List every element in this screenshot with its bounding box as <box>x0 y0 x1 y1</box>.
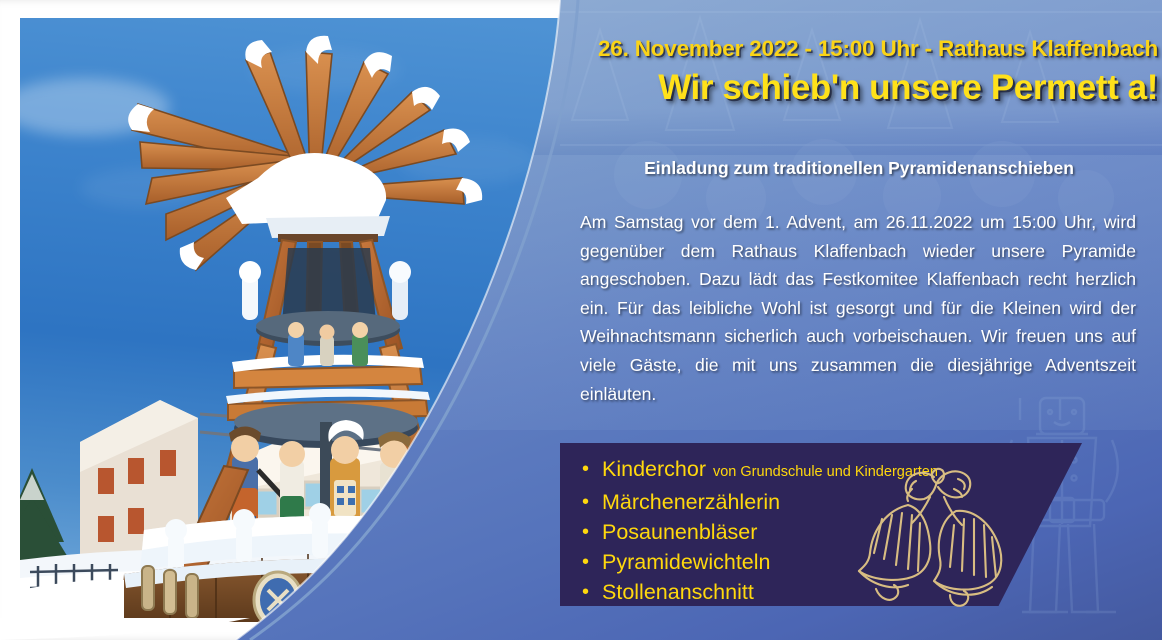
program-item-label: Posaunenbläser <box>602 518 757 546</box>
program-item: •Pyramidewichteln <box>560 548 990 576</box>
bullet-icon: • <box>582 518 589 546</box>
bullet-icon: • <box>582 455 589 483</box>
program-item: •Kinderchorvon Grundschule und Kindergar… <box>560 455 990 486</box>
program-list: •Kinderchorvon Grundschule und Kindergar… <box>560 443 990 618</box>
poster-body-text: Am Samstag vor dem 1. Advent, am 26.11.2… <box>580 208 1136 408</box>
event-date-line: 26. November 2022 - 15:00 Uhr - Rathaus … <box>580 36 1158 62</box>
content-column: 26. November 2022 - 15:00 Uhr - Rathaus … <box>520 0 1162 640</box>
program-item-sublabel: von Grundschule und Kindergarten <box>713 458 938 486</box>
program-item: •Posaunenbläser <box>560 518 990 546</box>
program-item-label: Märchenerzählerin <box>602 488 780 516</box>
poster-headline: Wir schieb'n unsere Permett a! <box>540 68 1158 108</box>
poster-root: 26. November 2022 - 15:00 Uhr - Rathaus … <box>0 0 1162 640</box>
program-item-label: Pyramidewichteln <box>602 548 770 576</box>
program-item: •Stollenanschnitt <box>560 578 990 606</box>
program-item-label: Kinderchor <box>602 455 706 483</box>
bullet-icon: • <box>582 578 589 606</box>
bullet-icon: • <box>582 488 589 516</box>
program-item-label: Stollenanschnitt <box>602 578 754 606</box>
program-item: •Märchenerzählerin <box>560 488 990 516</box>
bullet-icon: • <box>582 548 589 576</box>
poster-subtitle: Einladung zum traditionellen Pyramidenan… <box>560 158 1158 179</box>
